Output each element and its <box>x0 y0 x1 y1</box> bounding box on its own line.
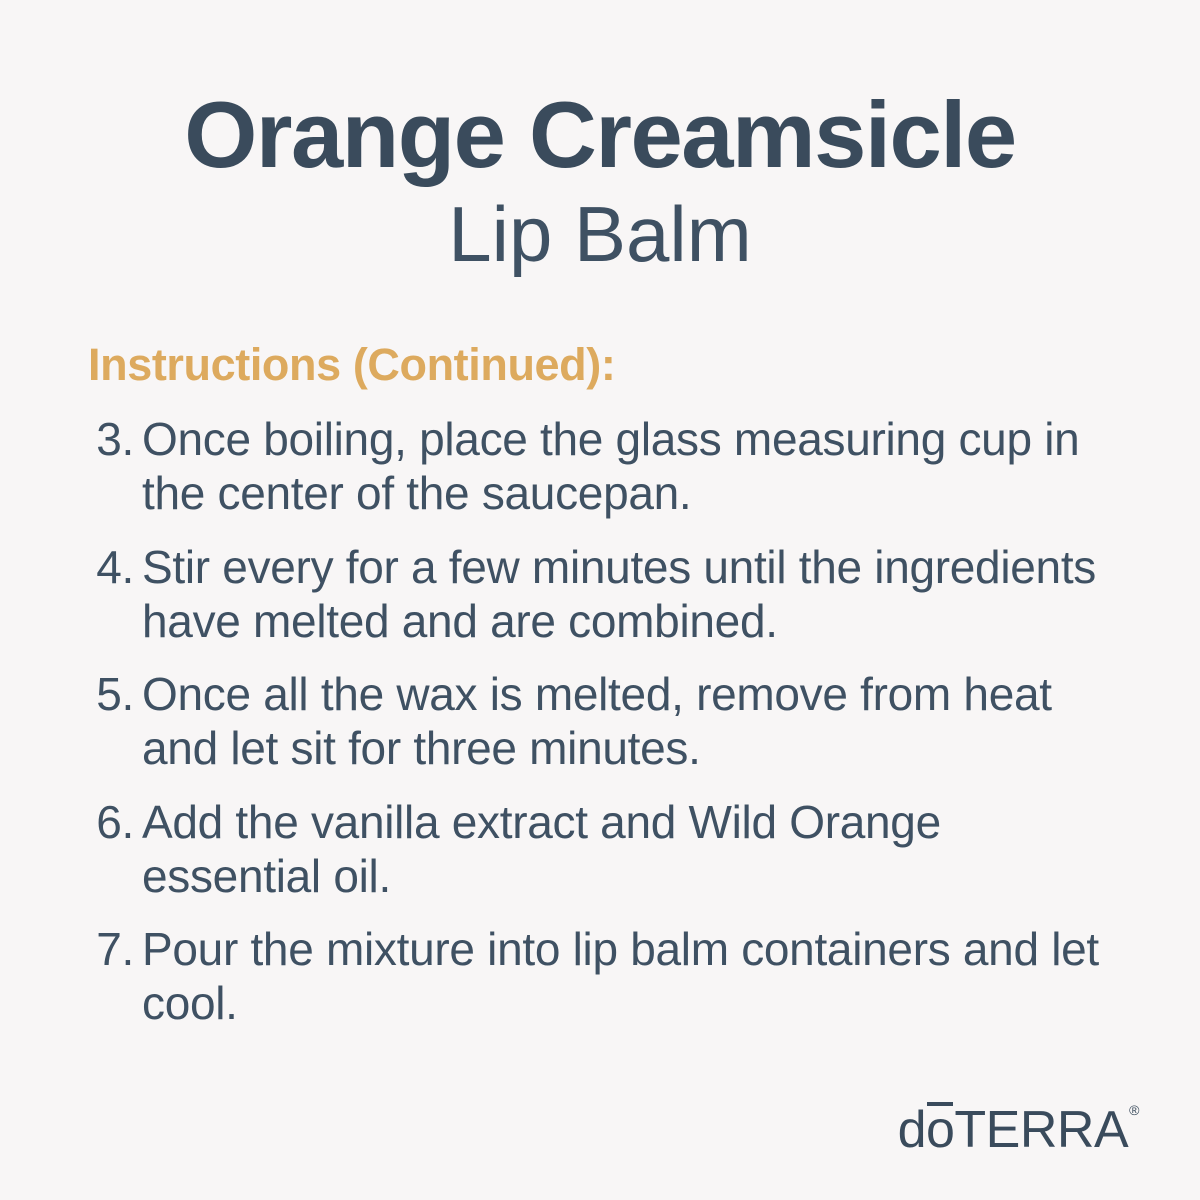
brand-wordmark: doTERRA® <box>898 1104 1138 1156</box>
list-item-text: Add the vanilla extract and Wild Orange … <box>142 795 1130 904</box>
list-item-number: 7. <box>88 922 134 976</box>
list-item-text: Pour the mixture into lip balm container… <box>142 922 1130 1031</box>
macron-bar <box>927 1102 953 1106</box>
registered-trademark-icon: ® <box>1129 1102 1139 1118</box>
list-item: 6. Add the vanilla extract and Wild Oran… <box>88 795 1130 904</box>
instructions-heading: Instructions (Continued): <box>88 338 1130 392</box>
page-subtitle: Lip Balm <box>0 191 1200 278</box>
list-item-text: Stir every for a few minutes until the i… <box>142 540 1130 649</box>
list-item: 3. Once boiling, place the glass measuri… <box>88 412 1130 521</box>
recipe-card: Orange Creamsicle Lip Balm Instructions … <box>0 0 1200 1200</box>
list-item: 4. Stir every for a few minutes until th… <box>88 540 1130 649</box>
list-item-text: Once all the wax is melted, remove from … <box>142 667 1130 776</box>
title-block: Orange Creamsicle Lip Balm <box>0 0 1200 278</box>
list-item-number: 4. <box>88 540 134 594</box>
doterra-logo: doTERRA® <box>898 1104 1138 1156</box>
logo-letters-terra: TERRA <box>954 1101 1128 1159</box>
list-item-number: 3. <box>88 412 134 466</box>
list-item-number: 6. <box>88 795 134 849</box>
list-item: 7. Pour the mixture into lip balm contai… <box>88 922 1130 1031</box>
instructions-section: Instructions (Continued): 3. Once boilin… <box>0 338 1200 1050</box>
page-title: Orange Creamsicle <box>0 86 1200 185</box>
logo-letter-o-macron: o <box>926 1104 954 1156</box>
instructions-list: 3. Once boiling, place the glass measuri… <box>88 412 1130 1031</box>
logo-letter-d: d <box>898 1101 926 1159</box>
logo-letter-o: o <box>926 1101 954 1159</box>
list-item-number: 5. <box>88 667 134 721</box>
list-item-text: Once boiling, place the glass measuring … <box>142 412 1130 521</box>
list-item: 5. Once all the wax is melted, remove fr… <box>88 667 1130 776</box>
